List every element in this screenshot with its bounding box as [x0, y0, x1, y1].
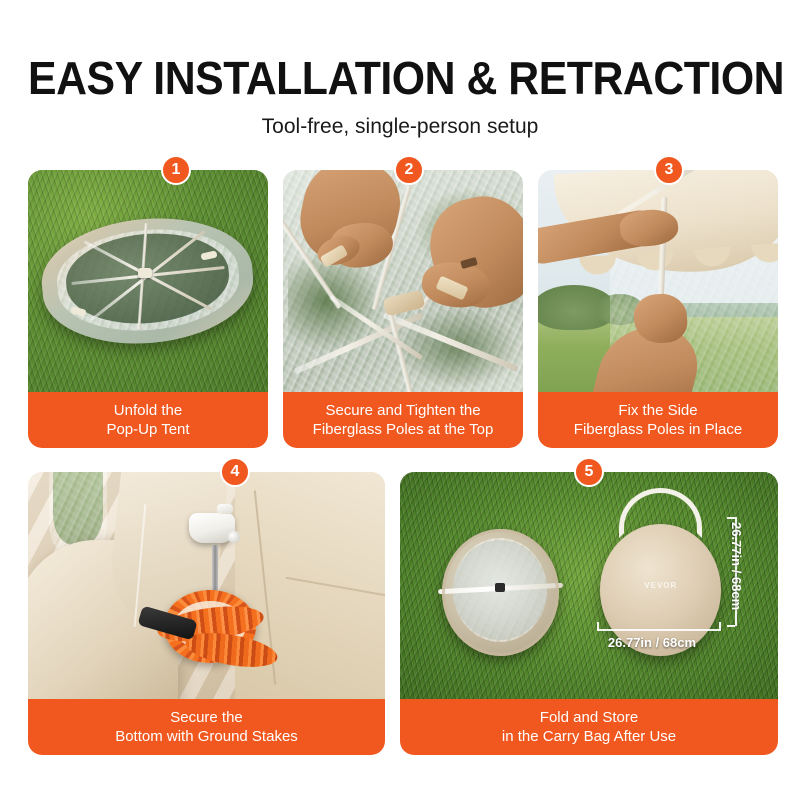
step-2-caption: Secure and Tighten the Fiberglass Poles …: [283, 392, 523, 448]
step-1-badge: 1: [161, 155, 191, 185]
dimension-cap-left: [597, 622, 599, 630]
step-4-badge: 4: [220, 457, 250, 487]
step-4-photo: [28, 472, 385, 699]
step-5-photo: VEVOR 26.77in / 68cm 26.77in / 68cm: [400, 472, 778, 699]
step-3-photo: [538, 170, 778, 392]
step-3-caption: Fix the Side Fiberglass Poles in Place: [538, 392, 778, 448]
step-2-caption-line-2: Fiberglass Poles at the Top: [313, 420, 494, 439]
step-5-caption-line-2: in the Carry Bag After Use: [502, 727, 676, 746]
dimension-label-height: 26.77in / 68cm: [729, 522, 744, 610]
step-1-caption-line-1: Unfold the: [114, 401, 182, 420]
step-4-caption-line-2: Bottom with Ground Stakes: [115, 727, 298, 746]
step-5-caption: Fold and Store in the Carry Bag After Us…: [400, 699, 778, 755]
step-2-number: 2: [405, 162, 414, 178]
step-4-number: 4: [231, 464, 240, 480]
step-4-caption-line-1: Secure the: [170, 708, 243, 727]
dimension-cap-bottom: [727, 625, 735, 627]
step-1-number: 1: [172, 162, 181, 178]
step-1-photo: [28, 170, 268, 392]
product-infographic: EASY INSTALLATION & RETRACTION Tool-free…: [0, 0, 800, 800]
bag-brandmark: VEVOR: [627, 581, 695, 590]
dimension-label-width: 26.77in / 68cm: [608, 635, 696, 650]
step-2-photo: [283, 170, 523, 392]
step-3-caption-line-1: Fix the Side: [618, 401, 697, 420]
dimension-line-horizontal: [597, 629, 722, 631]
step-1-caption-line-2: Pop-Up Tent: [106, 420, 189, 439]
step-2-badge: 2: [394, 155, 424, 185]
step-card-2[interactable]: Secure and Tighten the Fiberglass Poles …: [283, 170, 523, 448]
step-3-badge: 3: [654, 155, 684, 185]
step-2-caption-line-1: Secure and Tighten the: [325, 401, 480, 420]
step-1-caption: Unfold the Pop-Up Tent: [28, 392, 268, 448]
step-4-caption: Secure the Bottom with Ground Stakes: [28, 699, 385, 755]
step-card-5[interactable]: VEVOR 26.77in / 68cm 26.77in / 68cm Fold…: [400, 472, 778, 755]
step-5-number: 5: [585, 464, 594, 480]
steps-grid: Unfold the Pop-Up Tent 1: [0, 0, 800, 800]
dimension-cap-top: [727, 517, 735, 519]
step-3-caption-line-2: Fiberglass Poles in Place: [574, 420, 742, 439]
step-3-number: 3: [665, 162, 674, 178]
step-5-badge: 5: [574, 457, 604, 487]
step-card-4[interactable]: Secure the Bottom with Ground Stakes 4: [28, 472, 385, 755]
dimension-cap-right: [719, 622, 721, 630]
step-5-caption-line-1: Fold and Store: [540, 708, 638, 727]
step-card-3[interactable]: Fix the Side Fiberglass Poles in Place 3: [538, 170, 778, 448]
step-card-1[interactable]: Unfold the Pop-Up Tent 1: [28, 170, 268, 448]
